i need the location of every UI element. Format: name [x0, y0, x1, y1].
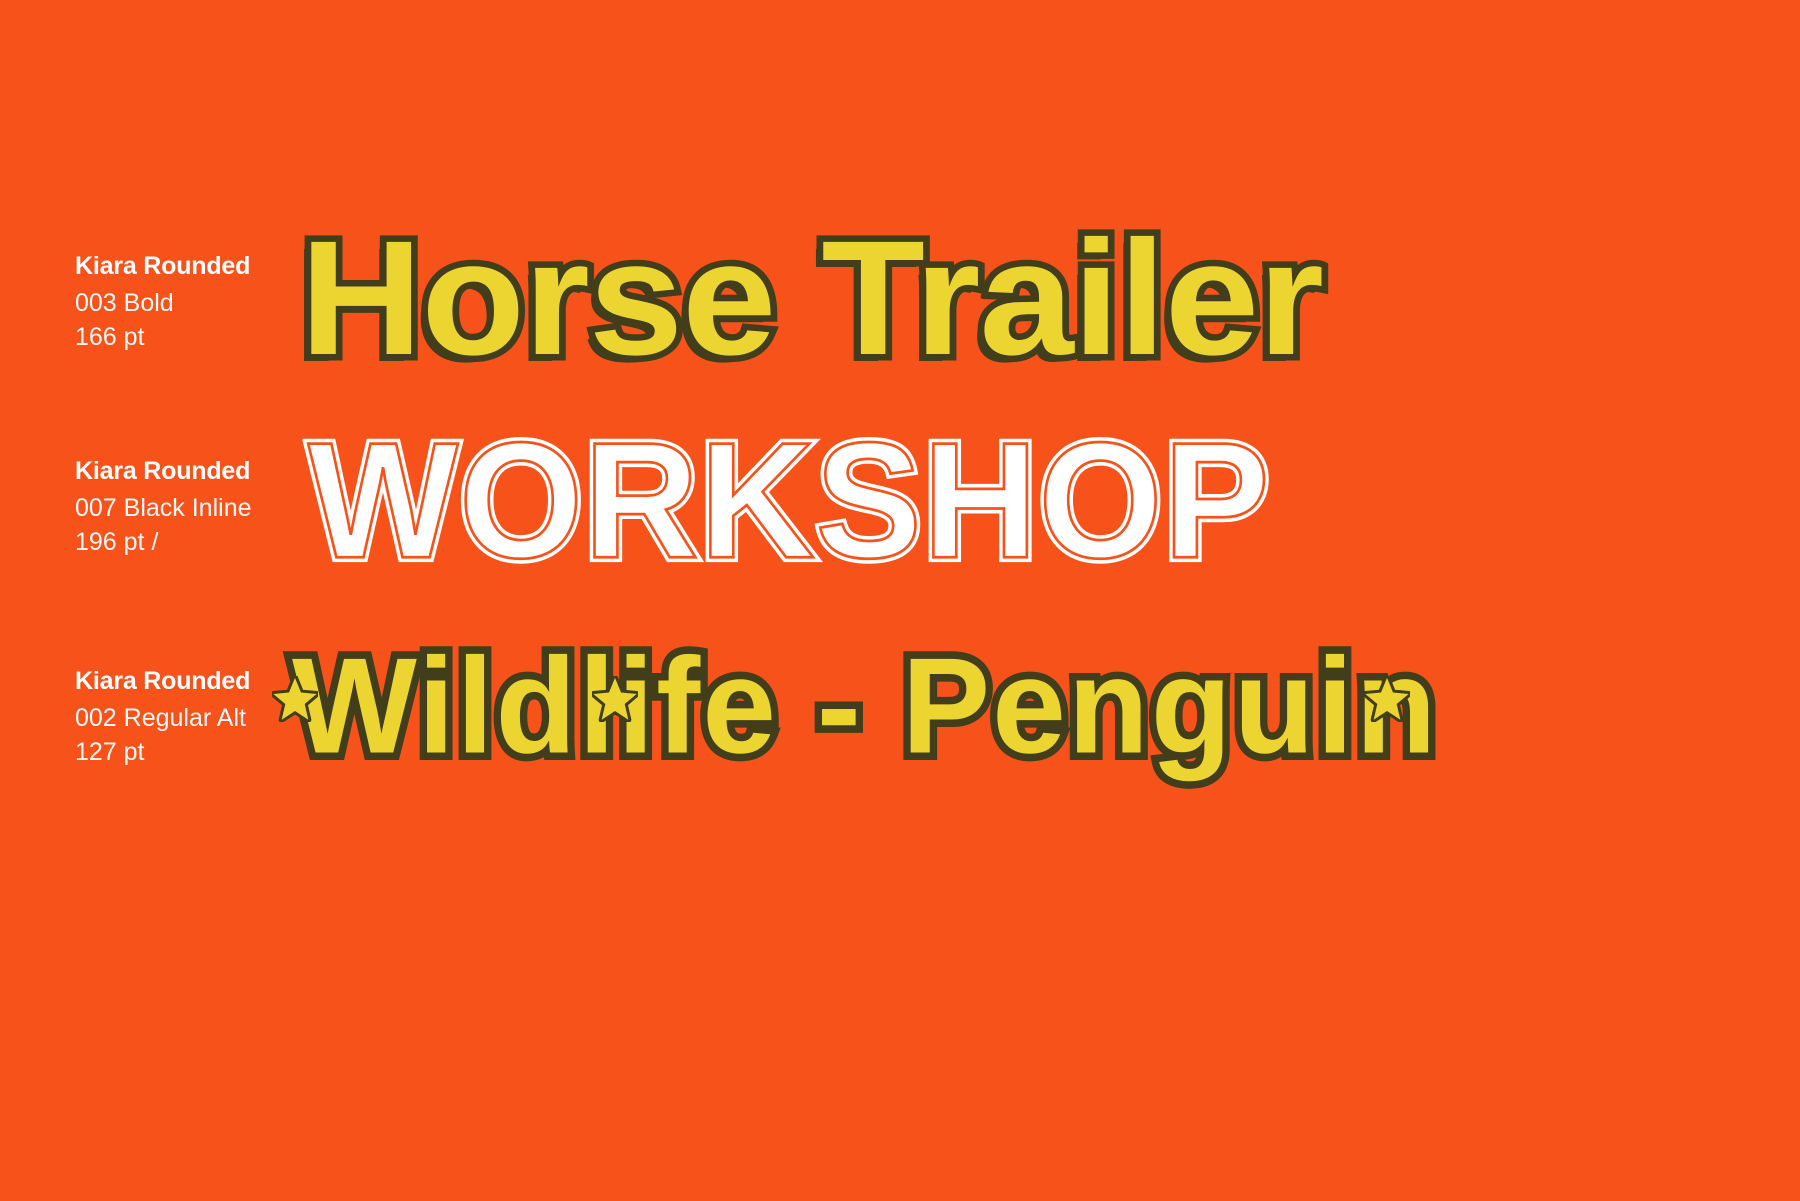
- specimen-label-black-inline: Kiara Rounded 007 Black Inline 196 pt /: [75, 455, 335, 560]
- font-size-label: 196 pt /: [75, 526, 335, 560]
- type-specimen-sheet: Kiara Rounded 003 Bold 166 pt Horse Trai…: [0, 0, 1800, 1201]
- font-size-label: 166 pt: [75, 321, 335, 355]
- specimen-row-regular-alt: Kiara Rounded 002 Regular Alt 127 pt Wil…: [0, 665, 1800, 865]
- font-family-label: Kiara Rounded: [75, 455, 335, 488]
- sample-text-horse-trailer: Horse Trailer: [300, 216, 1323, 379]
- specimen-label-bold: Kiara Rounded 003 Bold 166 pt: [75, 250, 335, 355]
- inline-stripe-overlay: WORKSHOP: [308, 418, 1270, 583]
- sample-text-workshop: WORKSHOPWORKSHOP: [308, 418, 1270, 583]
- specimen-row-black-inline: Kiara Rounded 007 Black Inline 196 pt / …: [0, 455, 1800, 655]
- sample-text-wildlife-penguin: Wildlife - Penguin: [292, 638, 1438, 774]
- font-family-label: Kiara Rounded: [75, 250, 335, 283]
- font-style-label: 003 Bold: [75, 287, 335, 321]
- font-style-label: 007 Black Inline: [75, 492, 335, 526]
